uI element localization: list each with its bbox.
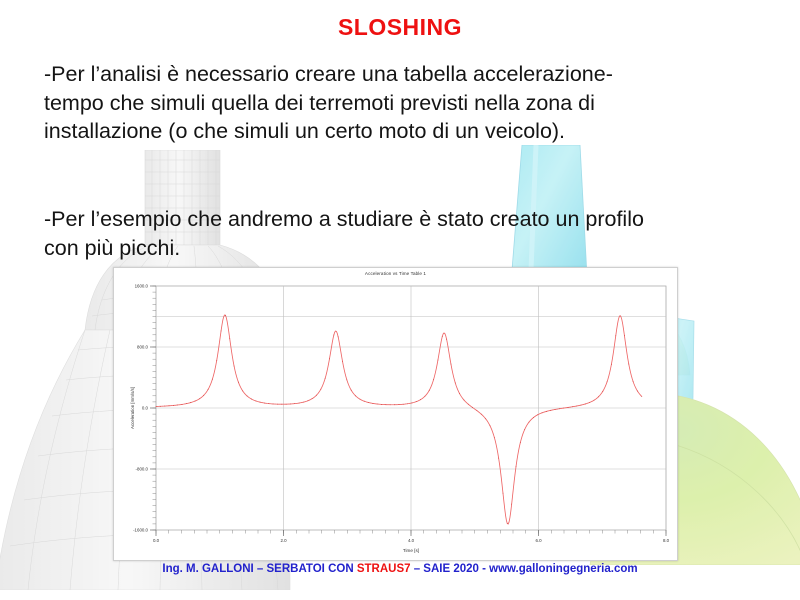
y-tick-label: -800.0 <box>136 467 149 472</box>
data-point-marker <box>641 396 642 397</box>
data-point-marker <box>216 360 217 361</box>
data-point-marker <box>529 422 530 423</box>
data-point-marker <box>338 337 339 338</box>
data-point-marker <box>303 402 304 403</box>
data-point-marker <box>173 405 174 406</box>
data-point-marker <box>247 396 248 397</box>
data-point-marker <box>242 391 243 392</box>
data-point-marker <box>403 404 404 405</box>
data-point-marker <box>316 395 317 396</box>
data-point-marker <box>442 336 443 337</box>
data-point-marker <box>225 315 226 316</box>
data-point-marker <box>507 523 508 524</box>
data-point-marker <box>195 401 196 402</box>
data-point-marker <box>412 403 413 404</box>
data-point-marker <box>407 403 408 404</box>
footer-part2: – SAIE 2020 - www.galloningegneria.com <box>411 563 638 575</box>
data-point-marker <box>160 406 161 407</box>
x-tick-label: 6.0 <box>535 538 542 543</box>
x-axis-label: Time [s] <box>403 548 419 553</box>
data-point-marker <box>264 403 265 404</box>
data-point-marker <box>381 404 382 405</box>
data-point-marker <box>164 406 165 407</box>
paragraph-analysis-line1: -Per l’analisi è necessario creare una t… <box>44 60 768 89</box>
data-point-marker <box>537 414 538 415</box>
data-point-marker <box>628 364 629 365</box>
page-title: SLOSHING <box>0 14 800 41</box>
data-point-marker <box>459 393 460 394</box>
data-point-marker <box>468 404 469 405</box>
data-point-marker <box>559 408 560 409</box>
data-point-marker <box>520 442 521 443</box>
data-point-marker <box>420 399 421 400</box>
data-point-marker <box>255 401 256 402</box>
data-point-marker <box>511 504 512 505</box>
data-point-marker <box>594 400 595 401</box>
data-point-marker <box>277 404 278 405</box>
footer-highlight: STRAUS7 <box>357 563 411 575</box>
data-point-marker <box>542 412 543 413</box>
data-point-marker <box>368 402 369 403</box>
data-point-marker <box>494 437 495 438</box>
data-point-marker <box>433 379 434 380</box>
paragraph-analysis-line2: tempo che simuli quella dei terremoti pr… <box>44 89 768 118</box>
data-point-marker <box>238 382 239 383</box>
chart-plot-area: -1600.0-800.00.0800.01600.00.02.04.06.08… <box>114 268 677 560</box>
data-point-marker <box>546 411 547 412</box>
data-point-marker <box>451 364 452 365</box>
data-point-marker <box>251 399 252 400</box>
data-point-marker <box>156 406 157 407</box>
data-point-marker <box>550 410 551 411</box>
data-point-marker <box>169 405 170 406</box>
data-point-marker <box>533 417 534 418</box>
data-point-marker <box>199 398 200 399</box>
data-point-marker <box>364 401 365 402</box>
data-point-marker <box>438 360 439 361</box>
data-point-marker <box>429 390 430 391</box>
data-point-marker <box>355 395 356 396</box>
x-tick-label: 2.0 <box>280 538 287 543</box>
data-point-marker <box>333 335 334 336</box>
data-point-marker <box>260 402 261 403</box>
data-point-marker <box>273 404 274 405</box>
footer-part1: Ing. M. GALLONI – SERBATOI CON <box>162 563 356 575</box>
data-point-marker <box>624 335 625 336</box>
data-point-marker <box>576 406 577 407</box>
data-point-marker <box>472 407 473 408</box>
y-tick-label: -1600.0 <box>133 528 148 533</box>
data-point-marker <box>229 338 230 339</box>
data-point-marker <box>568 407 569 408</box>
data-point-marker <box>425 396 426 397</box>
data-point-marker <box>598 396 599 397</box>
x-tick-label: 0.0 <box>153 538 160 543</box>
data-point-marker <box>633 381 634 382</box>
data-point-marker <box>377 404 378 405</box>
footer-credit: Ing. M. GALLONI – SERBATOI CON STRAUS7 –… <box>0 563 800 575</box>
data-point-marker <box>563 408 564 409</box>
acceleration-time-chart: Acceleration vs Time Table 1 -1600.0-800… <box>113 267 678 561</box>
data-point-marker <box>607 381 608 382</box>
data-point-marker <box>307 400 308 401</box>
data-point-marker <box>290 404 291 405</box>
y-tick-label: 1600.0 <box>135 284 149 289</box>
data-point-marker <box>281 404 282 405</box>
data-point-marker <box>524 429 525 430</box>
data-point-marker <box>386 404 387 405</box>
data-point-marker <box>589 402 590 403</box>
data-point-marker <box>182 404 183 405</box>
y-tick-label: 0.0 <box>142 406 149 411</box>
data-point-marker <box>637 391 638 392</box>
data-point-marker <box>390 404 391 405</box>
data-point-marker <box>234 366 235 367</box>
data-point-marker <box>602 391 603 392</box>
data-point-marker <box>394 404 395 405</box>
data-point-marker <box>286 404 287 405</box>
data-point-marker <box>498 458 499 459</box>
data-point-marker <box>416 401 417 402</box>
y-axis-label: Acceleration [mm/s/s] <box>130 387 135 429</box>
data-point-marker <box>585 404 586 405</box>
data-point-marker <box>464 400 465 401</box>
data-point-marker <box>611 364 612 365</box>
data-point-marker <box>212 379 213 380</box>
data-point-marker <box>373 403 374 404</box>
data-point-marker <box>490 425 491 426</box>
data-point-marker <box>186 403 187 404</box>
data-point-marker <box>516 466 517 467</box>
data-point-marker <box>351 390 352 391</box>
y-tick-label: 800.0 <box>137 345 149 350</box>
data-point-marker <box>177 405 178 406</box>
data-point-marker <box>477 410 478 411</box>
data-point-marker <box>221 331 222 332</box>
data-point-marker <box>485 418 486 419</box>
data-point-marker <box>572 406 573 407</box>
data-point-marker <box>360 399 361 400</box>
x-tick-label: 4.0 <box>408 538 415 543</box>
data-point-marker <box>294 403 295 404</box>
data-point-marker <box>346 380 347 381</box>
data-point-marker <box>446 339 447 340</box>
data-point-marker <box>620 315 621 316</box>
paragraph-analysis: -Per l’analisi è necessario creare una t… <box>44 60 768 146</box>
data-point-marker <box>203 395 204 396</box>
data-point-marker <box>615 335 616 336</box>
paragraph-example: -Per l’esempio che andremo a studiare è … <box>44 205 768 262</box>
data-point-marker <box>481 414 482 415</box>
data-point-marker <box>208 389 209 390</box>
data-point-marker <box>325 378 326 379</box>
paragraph-example-line1: -Per l’esempio che andremo a studiare è … <box>44 205 768 234</box>
paragraph-analysis-line3: installazione (o che simuli un certo mot… <box>44 117 768 146</box>
data-point-marker <box>455 383 456 384</box>
data-point-marker <box>299 403 300 404</box>
data-point-marker <box>399 404 400 405</box>
data-point-marker <box>320 389 321 390</box>
data-point-marker <box>329 358 330 359</box>
data-point-marker <box>312 398 313 399</box>
data-point-marker <box>268 403 269 404</box>
paragraph-example-line2: con più picchi. <box>44 234 768 263</box>
data-point-marker <box>503 493 504 494</box>
data-point-marker <box>555 409 556 410</box>
data-point-marker <box>581 405 582 406</box>
x-tick-label: 8.0 <box>663 538 670 543</box>
data-point-marker <box>342 361 343 362</box>
data-point-marker <box>190 402 191 403</box>
